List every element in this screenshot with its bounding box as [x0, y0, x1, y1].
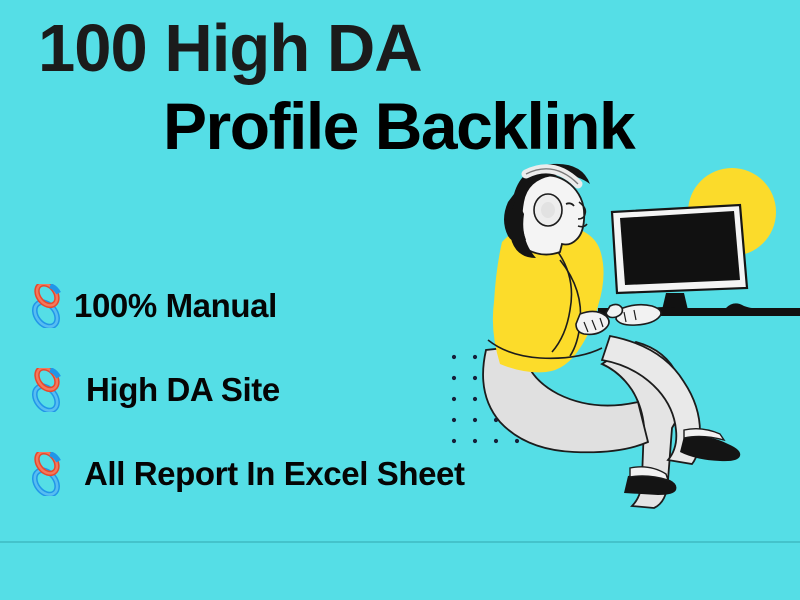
- feature-label: High DA Site: [72, 371, 280, 409]
- list-item: High DA Site: [24, 348, 584, 432]
- link-chain-icon: [24, 452, 70, 496]
- bottom-divider: [0, 541, 800, 543]
- headline-block: 100 High DA Profile Backlink: [0, 0, 760, 164]
- promo-poster: 100 High DA Profile Backlink: [0, 0, 800, 600]
- link-chain-icon: [24, 368, 70, 412]
- link-chain-icon: [24, 284, 70, 328]
- feature-list: 100% Manual High DA Site: [24, 264, 584, 516]
- headline-line-1: 100 High DA: [0, 0, 760, 86]
- list-item: 100% Manual: [24, 264, 584, 348]
- headline-line-2: Profile Backlink: [0, 86, 760, 164]
- feature-label: All Report In Excel Sheet: [72, 455, 465, 493]
- list-item: All Report In Excel Sheet: [24, 432, 584, 516]
- feature-label: 100% Manual: [72, 287, 277, 325]
- monitor-graphic: [612, 205, 747, 316]
